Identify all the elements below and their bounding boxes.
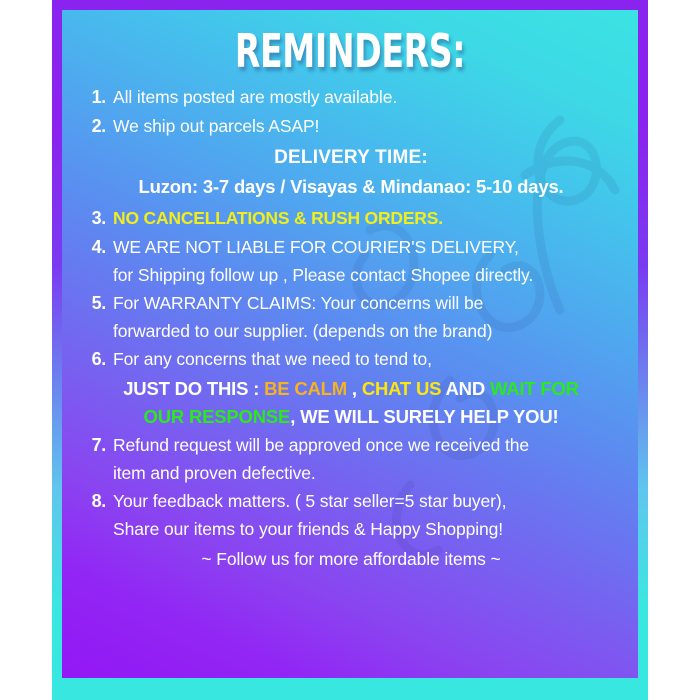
list-item-text: Share our items to your friends & Happy … (113, 518, 503, 541)
reminders-panel: REMINDERS: 1. All items posted are mostl… (62, 10, 638, 678)
callout-line-2: OUR RESPONSE, WE WILL SURELY HELP YOU! (80, 406, 622, 428)
list-item: 3. NO CANCELLATIONS & RUSH ORDERS. (80, 207, 622, 231)
reminders-graphic: REMINDERS: 1. All items posted are mostl… (0, 0, 700, 700)
list-item-number: 5. (80, 292, 113, 316)
callout-comma: , (347, 378, 362, 399)
callout-and: AND (441, 378, 490, 399)
list-item-text: Refund request will be approved once we … (113, 434, 529, 457)
callout-wait-for: WAIT FOR (490, 378, 579, 399)
list-item-text: For any concerns that we need to tend to… (113, 348, 432, 371)
list-item-text: NO CANCELLATIONS & RUSH ORDERS. (113, 207, 443, 230)
page-title: REMINDERS: (143, 10, 558, 74)
list-item: 1. All items posted are mostly available… (80, 86, 622, 110)
delivery-time-detail: Luzon: 3-7 days / Visayas & Mindanao: 5-… (80, 176, 622, 198)
list-item-number: 1. (80, 86, 113, 110)
outer-frame: REMINDERS: 1. All items posted are mostl… (52, 0, 648, 700)
list-item-number: 3. (80, 207, 113, 231)
callout-lead: JUST DO THIS : (123, 378, 264, 399)
list-item: 6. For any concerns that we need to tend… (80, 348, 622, 372)
list-item-continuation: item and proven defective. (80, 462, 622, 485)
list-item: 7. Refund request will be approved once … (80, 434, 622, 458)
callout-our-response: OUR RESPONSE (144, 406, 291, 427)
list-item-text: All items posted are mostly available. (113, 86, 397, 109)
reminders-list: 1. All items posted are mostly available… (62, 74, 638, 570)
follow-us-footer: ~ Follow us for more affordable items ~ (80, 549, 622, 570)
list-item-number: 4. (80, 236, 113, 260)
list-item-text: item and proven defective. (113, 462, 316, 485)
list-item-continuation: Share our items to your friends & Happy … (80, 518, 622, 541)
list-item-number: 7. (80, 434, 113, 458)
list-item: 2. We ship out parcels ASAP! (80, 115, 622, 139)
list-item-continuation: for Shipping follow up , Please contact … (80, 264, 622, 287)
delivery-time-heading: DELIVERY TIME: (80, 147, 622, 169)
panel-content: REMINDERS: 1. All items posted are mostl… (62, 10, 638, 678)
list-item-number: 2. (80, 115, 113, 139)
list-item-text: Your feedback matters. ( 5 star seller=5… (113, 490, 506, 513)
callout-tail: , WE WILL SURELY HELP YOU! (290, 406, 558, 427)
list-item-continuation: forwarded to our supplier. (depends on t… (80, 320, 622, 343)
list-item-text: For WARRANTY CLAIMS: Your concerns will … (113, 292, 483, 315)
list-item-text: for Shipping follow up , Please contact … (113, 264, 533, 287)
list-item: 8. Your feedback matters. ( 5 star selle… (80, 490, 622, 514)
callout-chat-us: CHAT US (362, 378, 441, 399)
list-item-text: WE ARE NOT LIABLE FOR COURIER'S DELIVERY… (113, 236, 519, 259)
list-item-text: forwarded to our supplier. (depends on t… (113, 320, 492, 343)
list-item-number: 6. (80, 348, 113, 372)
list-item-number: 8. (80, 490, 113, 514)
list-item: 5. For WARRANTY CLAIMS: Your concerns wi… (80, 292, 622, 316)
list-item-text: We ship out parcels ASAP! (113, 115, 319, 138)
callout-be-calm: BE CALM (264, 378, 347, 399)
list-item: 4. WE ARE NOT LIABLE FOR COURIER'S DELIV… (80, 236, 622, 260)
callout-line-1: JUST DO THIS : BE CALM , CHAT US AND WAI… (80, 378, 622, 400)
